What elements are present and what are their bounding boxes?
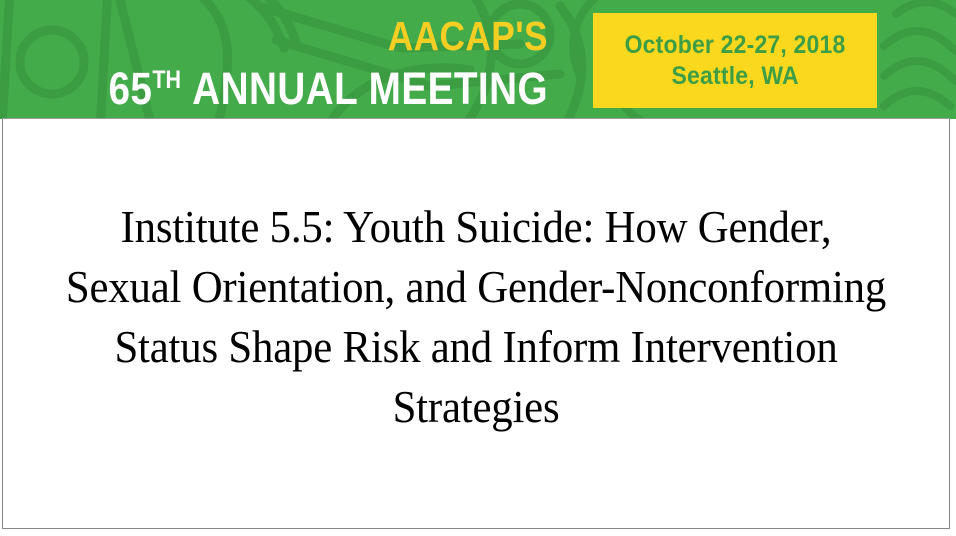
organization-name: AACAP'S [77, 14, 548, 58]
slide-body: Institute 5.5: Youth Suicide: How Gender… [3, 119, 949, 528]
meeting-ordinal: TH [152, 66, 181, 94]
date-location-box: October 22-27, 2018 Seattle, WA [593, 13, 877, 108]
conference-banner: AACAP'S 65TH ANNUAL MEETING October 22-2… [0, 0, 956, 119]
meeting-title: ANNUAL MEETING [192, 63, 548, 114]
conference-location: Seattle, WA [671, 61, 798, 92]
conference-wordmark: AACAP'S 65TH ANNUAL MEETING [0, 0, 580, 119]
meeting-name: 65TH ANNUAL MEETING [77, 55, 548, 114]
conference-dates: October 22-27, 2018 [625, 30, 846, 61]
presentation-slide: AACAP'S 65TH ANNUAL MEETING October 22-2… [0, 0, 956, 536]
meeting-label [181, 63, 192, 114]
page-title: Institute 5.5: Youth Suicide: How Gender… [62, 197, 890, 437]
meeting-number: 65 [108, 63, 152, 114]
